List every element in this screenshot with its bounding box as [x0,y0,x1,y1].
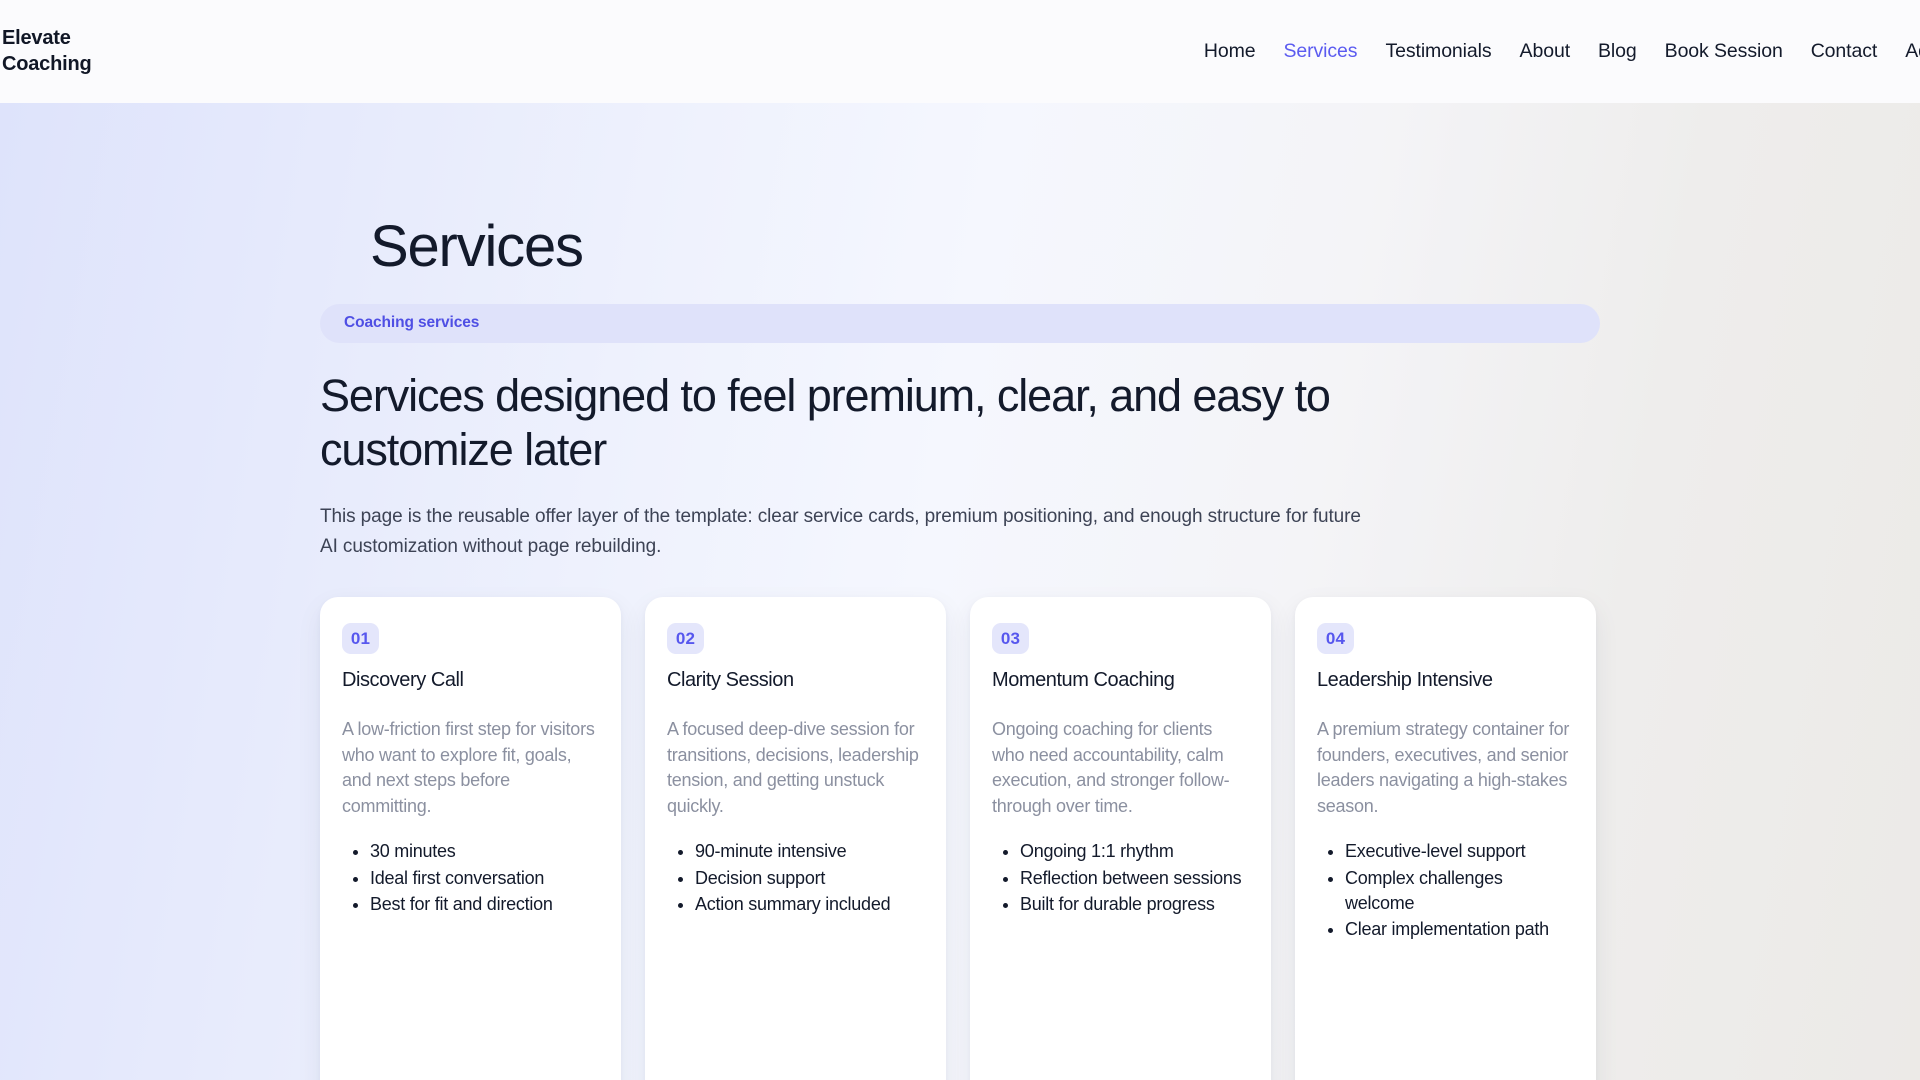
nav-link-contact[interactable]: Contact [1811,40,1878,63]
card-feature-item: Complex challenges welcome [1345,866,1574,916]
card-description: Ongoing coaching for clients who need ac… [992,717,1249,819]
hero-section: Services Coaching services Services desi… [0,103,1920,1080]
card-description: A premium strategy container for founder… [1317,717,1574,819]
card-feature-item: Executive-level support [1345,839,1574,864]
card-feature-item: Reflection between sessions [1020,866,1249,891]
nav-link-services[interactable]: Services [1283,40,1357,63]
card-feature-item: 90-minute intensive [695,839,924,864]
card-feature-list: 90-minute intensiveDecision supportActio… [667,839,924,917]
card-feature-item: Best for fit and direction [370,892,599,917]
page-title: Services [320,103,1600,280]
service-card[interactable]: 04Leadership IntensiveA premium strategy… [1295,597,1596,1080]
brand-logo[interactable]: Elevate Coaching [0,25,120,77]
site-header: Elevate Coaching HomeServicesTestimonial… [0,0,1920,103]
card-feature-item: Ongoing 1:1 rhythm [1020,839,1249,864]
card-title: Clarity Session [667,668,924,693]
card-feature-item: Built for durable progress [1020,892,1249,917]
page-root: Elevate Coaching HomeServicesTestimonial… [0,0,1920,1080]
card-title: Discovery Call [342,668,599,693]
brand-line-1: Elevate [2,25,120,51]
card-title: Leadership Intensive [1317,668,1574,693]
card-number-badge: 01 [342,623,379,654]
hero-subcopy: This page is the reusable offer layer of… [320,502,1380,561]
card-feature-item: Decision support [695,866,924,891]
eyebrow-badge: Coaching services [320,304,1600,343]
hero-inner: Services Coaching services Services desi… [320,103,1600,1080]
nav-link-about[interactable]: About [1520,40,1570,63]
main-navigation: HomeServicesTestimonialsAboutBlogBook Se… [1204,40,1920,63]
brand-line-2: Coaching [2,51,120,77]
service-card[interactable]: 03Momentum CoachingOngoing coaching for … [970,597,1271,1080]
card-number-badge: 03 [992,623,1029,654]
nav-link-admin[interactable]: Admin [1905,40,1920,63]
nav-link-testimonials[interactable]: Testimonials [1385,40,1491,63]
card-feature-item: 30 minutes [370,839,599,864]
card-feature-item: Action summary included [695,892,924,917]
service-card[interactable]: 01Discovery CallA low-friction first ste… [320,597,621,1080]
card-feature-item: Ideal first conversation [370,866,599,891]
card-feature-list: Executive-level supportComplex challenge… [1317,839,1574,942]
nav-link-home[interactable]: Home [1204,40,1256,63]
card-number-badge: 04 [1317,623,1354,654]
nav-link-blog[interactable]: Blog [1598,40,1637,63]
eyebrow-wrapper: Coaching services [320,304,1600,343]
service-card[interactable]: 02Clarity SessionA focused deep-dive ses… [645,597,946,1080]
card-description: A focused deep-dive session for transiti… [667,717,924,819]
service-cards-row: 01Discovery CallA low-friction first ste… [320,597,1600,1080]
card-description: A low-friction first step for visitors w… [342,717,599,819]
hero-headline: Services designed to feel premium, clear… [320,369,1440,479]
card-number-badge: 02 [667,623,704,654]
card-feature-item: Clear implementation path [1345,917,1574,942]
nav-link-book-session[interactable]: Book Session [1665,40,1783,63]
card-feature-list: Ongoing 1:1 rhythmReflection between ses… [992,839,1249,917]
card-title: Momentum Coaching [992,668,1249,693]
card-feature-list: 30 minutesIdeal first conversationBest f… [342,839,599,917]
